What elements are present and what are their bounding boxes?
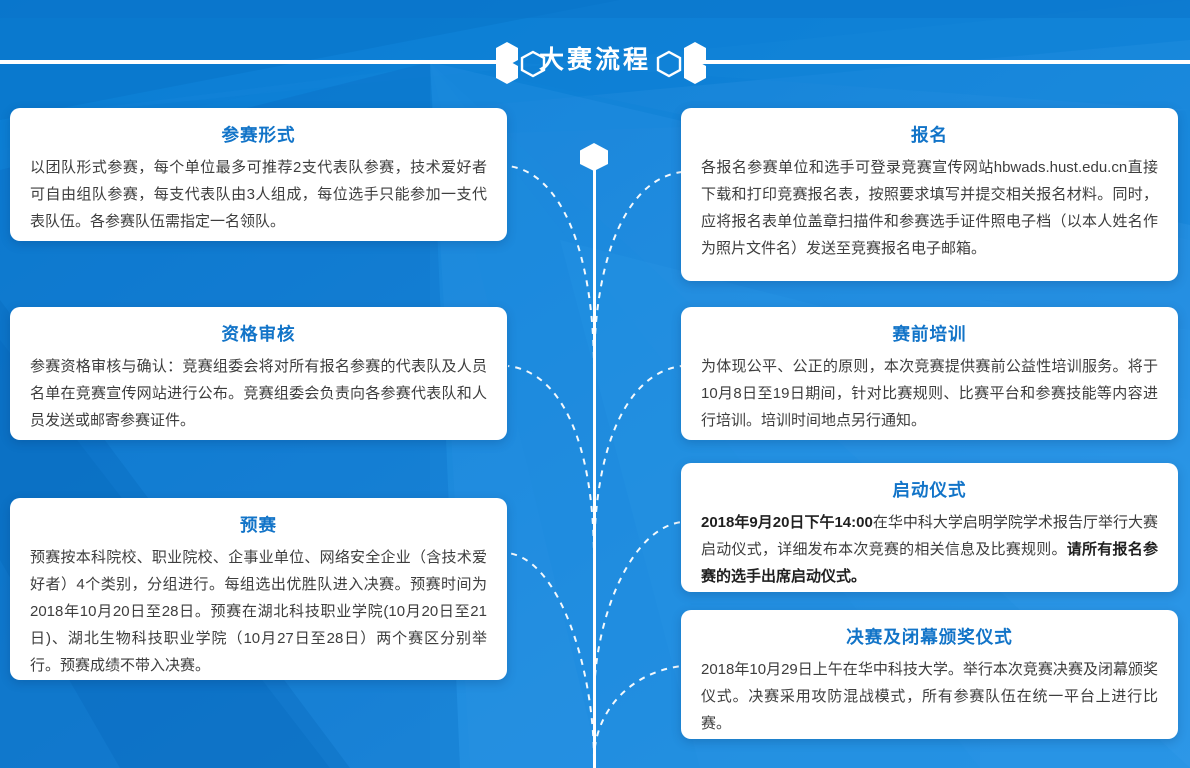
card-body: 参赛资格审核与确认：竞赛组委会将对所有报名参赛的代表队及人员名单在竞赛宣传网站进… [30,353,487,434]
card-body: 2018年9月20日下午14:00在华中科大学启明学院学术报告厅举行大赛启动仪式… [701,509,1158,590]
card-body: 预赛按本科院校、职业院校、企事业单位、网络安全企业（含技术爱好者）4个类别，分组… [30,544,487,679]
card-title: 资格审核 [30,321,487,347]
card-title: 赛前培训 [701,321,1158,347]
flow-card[interactable]: 赛前培训 为体现公平、公正的原则，本次竞赛提供赛前公益性培训服务。将于10月8日… [681,307,1178,440]
section-header: 大赛流程 [0,0,1190,108]
card-title: 启动仪式 [701,477,1158,503]
card-body: 2018年10月29日上午在华中科技大学。举行本次竞赛决赛及闭幕颁奖仪式。决赛采… [701,656,1158,737]
flow-card[interactable]: 报名 各报名参赛单位和选手可登录竞赛宣传网站hbwads.hust.edu.cn… [681,108,1178,281]
card-body: 以团队形式参赛，每个单位最多可推荐2支代表队参赛，技术爱好者可自由组队参赛，每支… [30,154,487,235]
flow-page: 大赛流程 参赛形式 以团队形式参赛，每个单位最多可推荐2支代表队参赛，技术爱好者… [0,0,1190,768]
page-title: 大赛流程 [0,42,1190,78]
card-title: 报名 [701,122,1158,148]
card-title: 决赛及闭幕颁奖仪式 [701,624,1158,650]
flow-card[interactable]: 决赛及闭幕颁奖仪式 2018年10月29日上午在华中科技大学。举行本次竞赛决赛及… [681,610,1178,739]
flow-card[interactable]: 预赛 预赛按本科院校、职业院校、企事业单位、网络安全企业（含技术爱好者）4个类别… [10,498,507,680]
card-body-emphasis-start: 2018年9月20日下午14:00 [701,514,873,531]
card-body: 各报名参赛单位和选手可登录竞赛宣传网站hbwads.hust.edu.cn直接下… [701,154,1158,262]
timeline-spine [593,168,596,768]
hexagon-node-icon [578,142,610,172]
card-title: 参赛形式 [30,122,487,148]
card-body: 为体现公平、公正的原则，本次竞赛提供赛前公益性培训服务。将于10月8日至19日期… [701,353,1158,434]
card-title: 预赛 [30,512,487,538]
flow-card[interactable]: 参赛形式 以团队形式参赛，每个单位最多可推荐2支代表队参赛，技术爱好者可自由组队… [10,108,507,241]
flow-card[interactable]: 资格审核 参赛资格审核与确认：竞赛组委会将对所有报名参赛的代表队及人员名单在竞赛… [10,307,507,440]
flow-card[interactable]: 启动仪式 2018年9月20日下午14:00在华中科大学启明学院学术报告厅举行大… [681,463,1178,592]
